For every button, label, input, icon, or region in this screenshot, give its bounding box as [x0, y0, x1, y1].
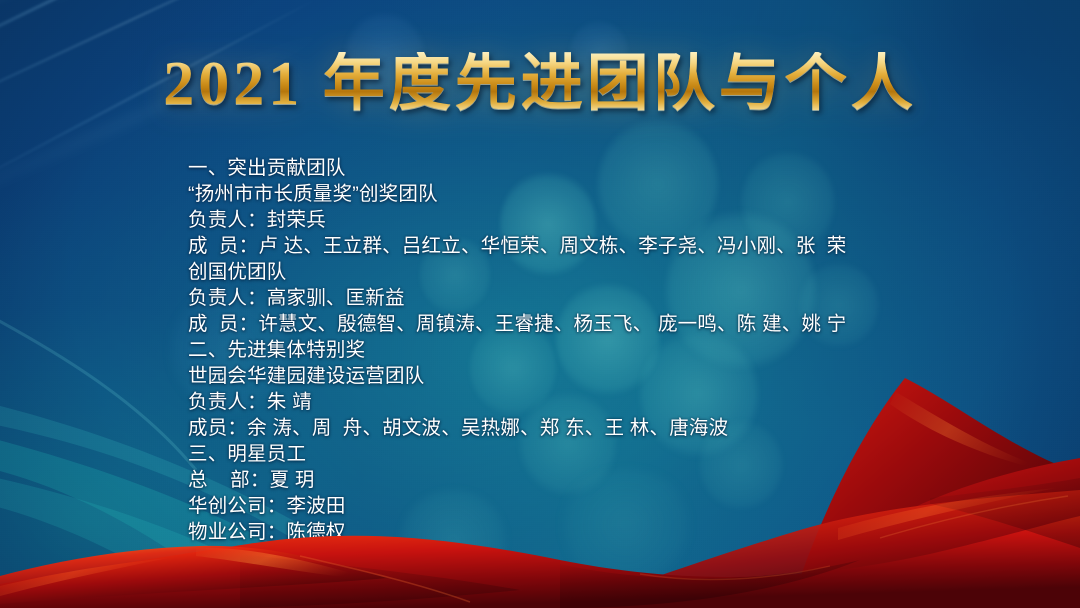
list-item: 创国优团队 [188, 259, 948, 285]
list-item: “扬州市市长质量奖”创奖团队 [188, 181, 948, 207]
list-item: 负责人：高家驯、匡新益 [188, 285, 948, 311]
list-item: 负责人：封荣兵 [188, 207, 948, 233]
list-item: 成 员：许慧文、殷德智、周镇涛、王睿捷、杨玉飞、 庞一鸣、陈 建、姚 宁 [188, 311, 948, 337]
page-title: 2021 年度先进团队与个人 [163, 52, 917, 118]
title-container: 2021 年度先进团队与个人 [0, 52, 1080, 118]
list-item: 成 员：卢 达、王立群、吕红立、华恒荣、周文栋、李子尧、冯小刚、张 荣 [188, 233, 948, 259]
red-silk-drape-decoration [0, 378, 1080, 608]
list-item: 二、先进集体特别奖 [188, 337, 948, 363]
list-item: 一、突出贡献团队 [188, 155, 948, 181]
award-slide: 2021 年度先进团队与个人 一、突出贡献团队 “扬州市市长质量奖”创奖团队 负… [0, 0, 1080, 608]
